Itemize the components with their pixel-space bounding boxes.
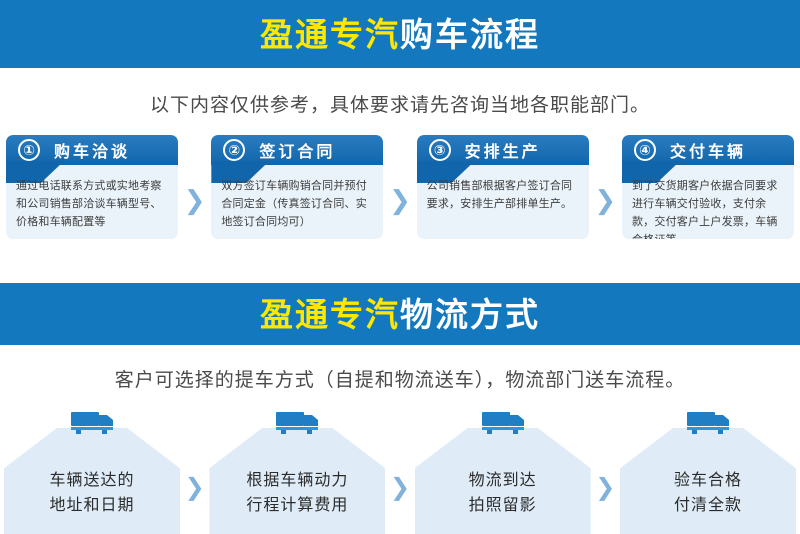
logistics-item-1[interactable]: 车辆送达的 地址和日期	[4, 410, 180, 534]
step-title-4: 交付车辆	[670, 138, 746, 162]
logistics-banner: 盈通专汽物流方式	[0, 283, 800, 345]
truck-icon	[685, 410, 731, 436]
logistics-item-4[interactable]: 验车合格 付清全款	[620, 410, 796, 534]
step-card-1[interactable]: ① 购车洽谈 通过电话联系方式或实地考察和公司销售部洽谈车辆型号、价格和车辆配置…	[6, 135, 178, 239]
step-number-badge-3: ③	[429, 139, 451, 161]
logistics-line1-4: 验车合格	[674, 469, 742, 494]
step-card-2[interactable]: ② 签订合同 双方签订车辆购销合同并预付合同定金（传真签订合同、实地签订合同均可…	[211, 135, 383, 239]
truck-icon	[69, 410, 115, 436]
step-body-2: 双方签订车辆购销合同并预付合同定金（传真签订合同、实地签订合同均可）	[211, 165, 383, 231]
step-title-2: 签订合同	[259, 138, 335, 162]
logistics-shape-1: 车辆送达的 地址和日期	[4, 428, 180, 534]
truck-icon	[274, 410, 320, 436]
step-number-badge-1: ①	[18, 139, 40, 161]
step-header-2: ② 签订合同	[211, 135, 383, 165]
step-body-3: 公司销售部根据客户签订合同要求，安排生产部排单生产。	[417, 165, 589, 213]
logistics-banner-plain: 物流方式	[400, 296, 540, 333]
logistics-shape-3: 物流到达 拍照留影	[415, 428, 591, 534]
step-title-3: 安排生产	[465, 138, 541, 162]
logistics-shape-2: 根据车辆动力 行程计算费用	[209, 428, 385, 534]
logistics-items-row: 车辆送达的 地址和日期 ❯ 根据车辆动力 行程计算费用 ❯ 物流到达 拍照留影	[0, 406, 800, 534]
step-header-4: ④ 交付车辆	[622, 135, 794, 165]
step-header-3: ③ 安排生产	[417, 135, 589, 165]
logistics-line1-3: 物流到达	[469, 469, 537, 494]
logistics-line2-3: 拍照留影	[469, 494, 537, 519]
step-body-4: 到了交货期客户依据合同要求进行车辆交付验收，支付余款，交付客户上户发票，车辆合格…	[622, 165, 794, 239]
logistics-shape-4: 验车合格 付清全款	[620, 428, 796, 534]
step-number-badge-2: ②	[223, 139, 245, 161]
logistics-banner-accent: 盈通专汽	[260, 296, 400, 333]
step-title-1: 购车洽谈	[54, 138, 130, 162]
step-card-4[interactable]: ④ 交付车辆 到了交货期客户依据合同要求进行车辆交付验收，支付余款，交付客户上户…	[622, 135, 794, 239]
step-header-1: ① 购车洽谈	[6, 135, 178, 165]
purchase-banner-accent: 盈通专汽	[260, 16, 400, 53]
chevron-right-icon: ❯	[185, 476, 205, 500]
logistics-item-3[interactable]: 物流到达 拍照留影	[415, 410, 591, 534]
purchase-steps-row: ① 购车洽谈 通过电话联系方式或实地考察和公司销售部洽谈车辆型号、价格和车辆配置…	[0, 135, 800, 243]
logistics-line2-1: 地址和日期	[49, 494, 134, 519]
step-body-1: 通过电话联系方式或实地考察和公司销售部洽谈车辆型号、价格和车辆配置等	[6, 165, 178, 231]
purchase-banner: 盈通专汽购车流程	[0, 0, 800, 68]
chevron-right-icon: ❯	[389, 187, 411, 213]
logistics-line1-1: 车辆送达的	[49, 469, 134, 494]
truck-icon	[480, 410, 526, 436]
purchase-banner-plain: 购车流程	[400, 16, 540, 53]
logistics-subtitle: 客户可选择的提车方式（自提和物流送车），物流部门送车流程。	[0, 365, 800, 392]
chevron-right-icon: ❯	[390, 476, 410, 500]
logistics-item-2[interactable]: 根据车辆动力 行程计算费用	[209, 410, 385, 534]
logistics-line2-2: 行程计算费用	[246, 494, 348, 519]
chevron-right-icon: ❯	[184, 187, 206, 213]
chevron-right-icon: ❯	[595, 476, 615, 500]
chevron-right-icon: ❯	[594, 187, 616, 213]
step-number-badge-4: ④	[634, 139, 656, 161]
logistics-line2-4: 付清全款	[674, 494, 742, 519]
logistics-line1-2: 根据车辆动力	[246, 469, 348, 494]
purchase-subtitle: 以下内容仅供参考，具体要求请先咨询当地各职能部门。	[0, 90, 800, 117]
step-card-3[interactable]: ③ 安排生产 公司销售部根据客户签订合同要求，安排生产部排单生产。	[417, 135, 589, 239]
